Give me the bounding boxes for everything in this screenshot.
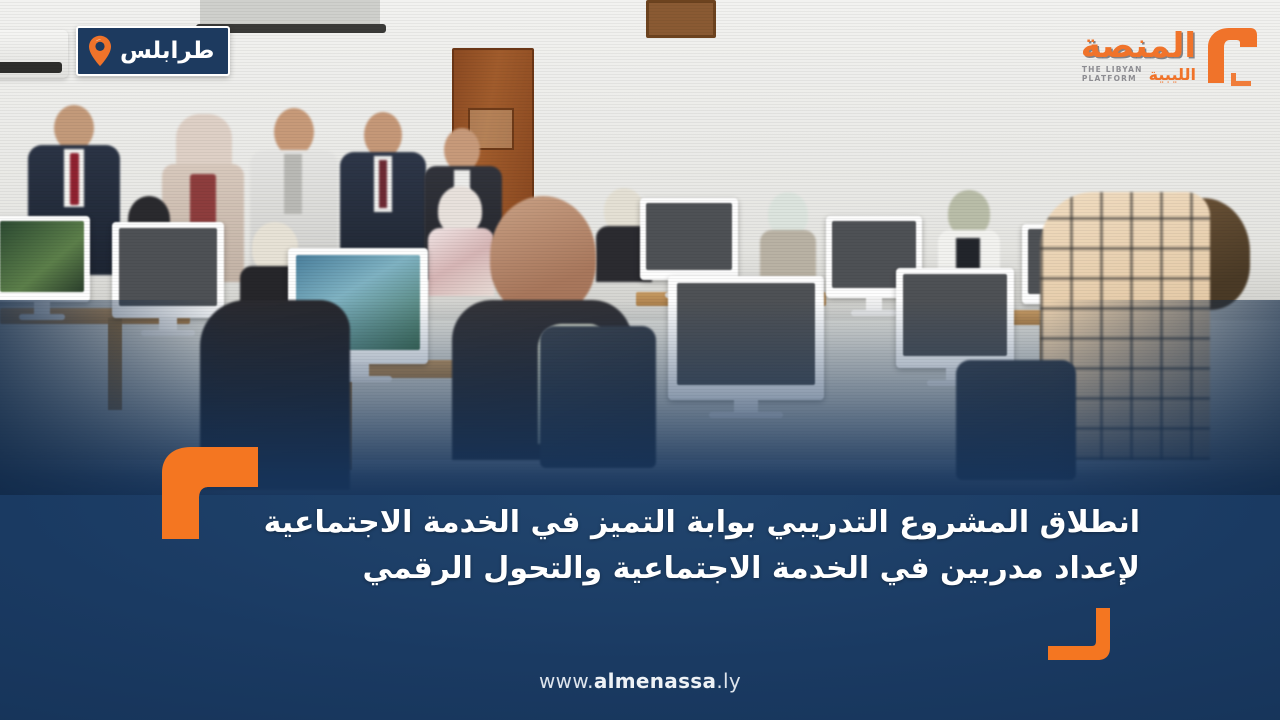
logo-english-line1: THE LIBYAN (1082, 65, 1143, 74)
logo-arabic-sub: الليبية (1149, 67, 1196, 83)
headline: انطلاق المشروع التدريبي بوابة التميز في … (160, 500, 1140, 591)
orange-bracket-mark-icon (1200, 23, 1262, 89)
logo-english-line2: PLATFORM (1082, 74, 1143, 83)
site-logo: المنصة THE LIBYAN PLATFORM الليبية (1052, 12, 1262, 100)
logo-subtitle-row: THE LIBYAN PLATFORM الليبية (1082, 65, 1196, 84)
website-url: www.almenassa.ly (0, 669, 1280, 693)
location-label: طرابلس (120, 40, 214, 63)
logo-arabic-main: المنصة (1081, 29, 1196, 63)
website-name: almenassa (594, 669, 717, 693)
orange-corner-bracket-bottom-right-icon (1048, 608, 1110, 660)
website-prefix: www. (539, 669, 594, 693)
location-badge: طرابلس (76, 26, 230, 76)
headline-line-1: انطلاق المشروع التدريبي بوابة التميز في … (160, 500, 1140, 546)
logo-english: THE LIBYAN PLATFORM (1082, 65, 1143, 84)
website-tld: .ly (716, 669, 741, 693)
map-pin-icon (88, 35, 112, 67)
logo-text-group: المنصة THE LIBYAN PLATFORM الليبية (1081, 29, 1196, 84)
headline-line-2: لإعداد مدربين في الخدمة الاجتماعية والتح… (160, 546, 1140, 592)
graphic-card: طرابلس المنصة THE LIBYAN PLATFORM الليبي… (0, 0, 1280, 720)
